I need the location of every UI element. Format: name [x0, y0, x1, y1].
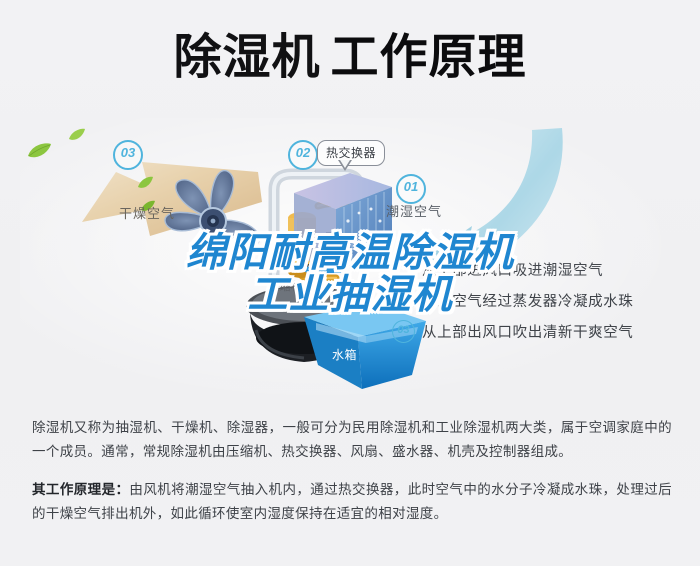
caption-text-02: 潮湿空气经过蒸发器冷凝成水珠	[422, 290, 633, 311]
paragraph-2-label: 其工作原理是：	[32, 482, 129, 497]
label-compressor: 压缩机	[268, 278, 303, 294]
step-caption-02: 02 潮湿空气经过蒸发器冷凝成水珠	[392, 285, 692, 316]
page-title: 除湿机工作原理	[0, 34, 700, 82]
step-badge-01: 01	[396, 174, 426, 204]
step-badge-03: 03	[113, 140, 143, 170]
leaf-icon	[26, 142, 52, 160]
caption-text-01: 从下部进风口吸进潮湿空气	[422, 259, 603, 280]
infographic-page: 除湿机工作原理	[0, 0, 700, 566]
step-caption-03: 03 从上部出风口吹出清新干爽空气	[392, 316, 692, 347]
paragraph-1: 除湿机又称为抽湿机、干燥机、除湿器，一般可分为民用除湿机和工业除湿机两大类，属于…	[32, 416, 672, 464]
label-dry-air: 干燥空气	[119, 203, 175, 222]
step-badge-02: 02	[288, 140, 318, 170]
step-caption-01: 01 从下部进风口吸进潮湿空气	[392, 254, 692, 285]
leaf-icon	[68, 128, 86, 142]
evaporator-icon	[288, 163, 398, 278]
paragraph-2: 其工作原理是：由风机将潮湿空气抽入机内，通过热交换器，此时空气中的水分子冷凝成水…	[32, 478, 672, 526]
callout-tail-icon	[338, 160, 352, 171]
description-text: 除湿机又称为抽湿机、干燥机、除湿器，一般可分为民用除湿机和工业除湿机两大类，属于…	[32, 416, 672, 540]
leaf-icon	[137, 176, 154, 190]
caption-text-03: 从上部出风口吹出清新干爽空气	[422, 321, 633, 342]
caption-number-02: 02	[392, 289, 415, 312]
page-title-part2: 工作原理	[331, 31, 527, 84]
step-caption-list: 01 从下部进风口吸进潮湿空气 02 潮湿空气经过蒸发器冷凝成水珠 03 从上部…	[392, 254, 692, 347]
caption-number-03: 03	[392, 320, 415, 343]
page-title-part1: 除湿机	[173, 31, 320, 84]
label-humid-air: 潮湿空气	[386, 201, 442, 220]
label-water-tank: 水箱	[332, 346, 357, 363]
